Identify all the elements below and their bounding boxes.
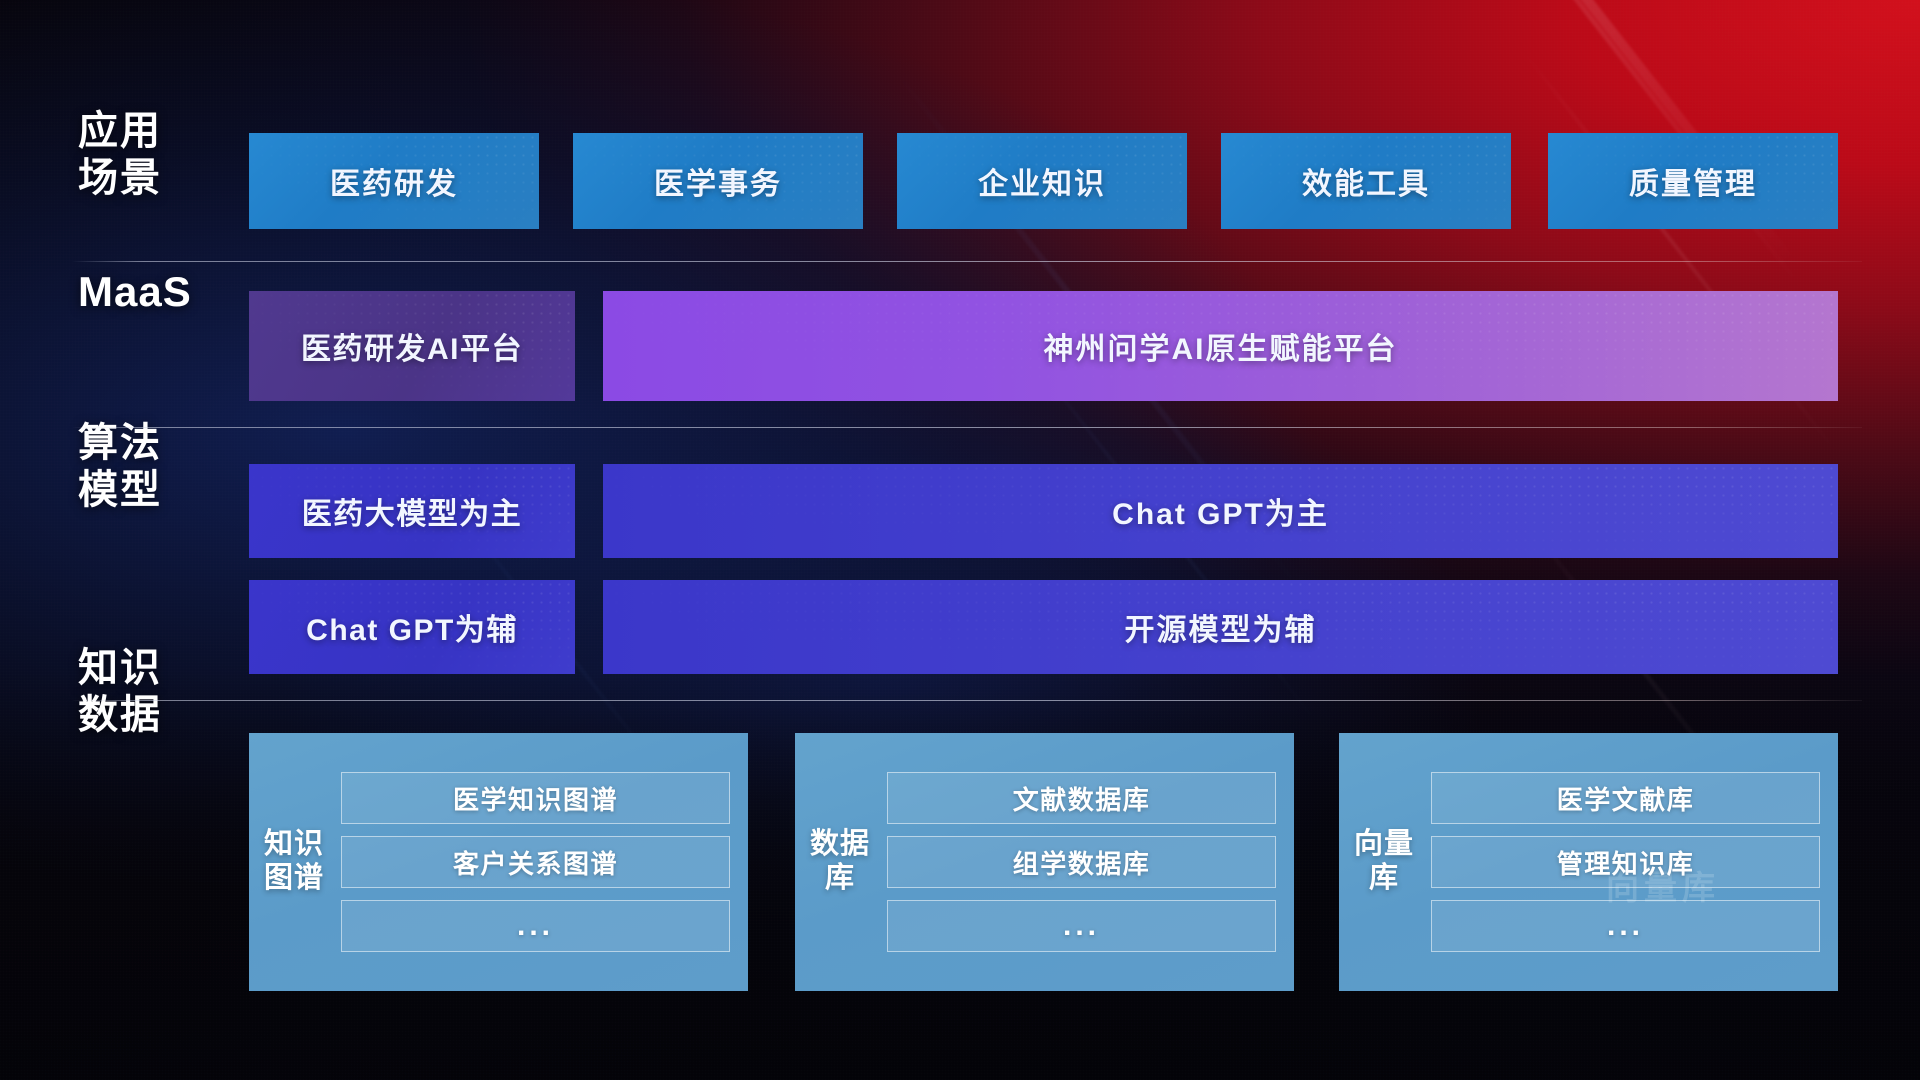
row-label-algorithm: 算法 模型 — [78, 420, 228, 514]
application-card-3[interactable]: 效能工具 — [1221, 133, 1511, 229]
algorithm-card-label: 开源模型为辅 — [1125, 605, 1317, 649]
maas-card-drug-rd-platform[interactable]: 医药研发AI平台 — [249, 291, 575, 401]
knowledge-panel-items: 文献数据库 组学数据库 ... — [887, 772, 1276, 952]
knowledge-item-more[interactable]: ... — [1431, 900, 1820, 952]
algorithm-card-label: 医药大模型为主 — [302, 489, 523, 533]
application-card-label: 效能工具 — [1302, 159, 1430, 203]
knowledge-item[interactable]: 客户关系图谱 — [341, 836, 730, 888]
application-card-2[interactable]: 企业知识 — [897, 133, 1187, 229]
application-card-label: 企业知识 — [978, 159, 1106, 203]
knowledge-item[interactable]: 医学文献库 — [1431, 772, 1820, 824]
knowledge-item-more[interactable]: ... — [341, 900, 730, 952]
application-card-0[interactable]: 医药研发 — [249, 133, 539, 229]
application-card-label: 医药研发 — [330, 159, 458, 203]
knowledge-item-more[interactable]: ... — [887, 900, 1276, 952]
maas-card-label: 神州问学AI原生赋能平台 — [1044, 324, 1398, 368]
algorithm-card-left-0[interactable]: 医药大模型为主 — [249, 464, 575, 558]
algorithm-card-label: Chat GPT为辅 — [306, 605, 518, 649]
row-label-application: 应用 场景 — [78, 108, 228, 202]
algorithm-card-label: Chat GPT为主 — [1112, 489, 1329, 533]
algorithm-card-right-0[interactable]: Chat GPT为主 — [603, 464, 1838, 558]
knowledge-panel-title: 知识 图谱 — [261, 828, 327, 895]
algorithm-card-left-1[interactable]: Chat GPT为辅 — [249, 580, 575, 674]
divider-maas-algorithm — [72, 427, 1862, 428]
maas-card-label: 医药研发AI平台 — [301, 324, 523, 368]
knowledge-panel-1[interactable]: 数据 库 文献数据库 组学数据库 ... — [795, 733, 1294, 991]
algorithm-card-right-1[interactable]: 开源模型为辅 — [603, 580, 1838, 674]
knowledge-panel-0[interactable]: 知识 图谱 医学知识图谱 客户关系图谱 ... — [249, 733, 748, 991]
divider-algorithm-knowledge — [72, 700, 1862, 701]
knowledge-item[interactable]: 管理知识库 — [1431, 836, 1820, 888]
row-label-knowledge: 知识 数据 — [78, 645, 228, 739]
knowledge-item[interactable]: 文献数据库 — [887, 772, 1276, 824]
application-card-4[interactable]: 质量管理 — [1548, 133, 1838, 229]
knowledge-item[interactable]: 医学知识图谱 — [341, 772, 730, 824]
application-card-1[interactable]: 医学事务 — [573, 133, 863, 229]
architecture-diagram-slide: 应用 场景 MaaS 算法 模型 知识 数据 医药研发 医学事务 企业知识 效能… — [0, 0, 1920, 1080]
knowledge-panel-items: 医学知识图谱 客户关系图谱 ... — [341, 772, 730, 952]
application-card-label: 质量管理 — [1629, 159, 1757, 203]
row-label-maas: MaaS — [78, 267, 228, 317]
knowledge-item[interactable]: 组学数据库 — [887, 836, 1276, 888]
divider-application-maas — [72, 261, 1862, 262]
knowledge-panel-items: 医学文献库 管理知识库 ... — [1431, 772, 1820, 952]
knowledge-panel-title: 向量 库 — [1351, 828, 1417, 895]
maas-card-shenzhou-platform[interactable]: 神州问学AI原生赋能平台 — [603, 291, 1838, 401]
knowledge-panel-2[interactable]: 向量 库 医学文献库 管理知识库 ... 向量库 — [1339, 733, 1838, 991]
application-card-label: 医学事务 — [654, 159, 782, 203]
knowledge-panel-title: 数据 库 — [807, 828, 873, 895]
